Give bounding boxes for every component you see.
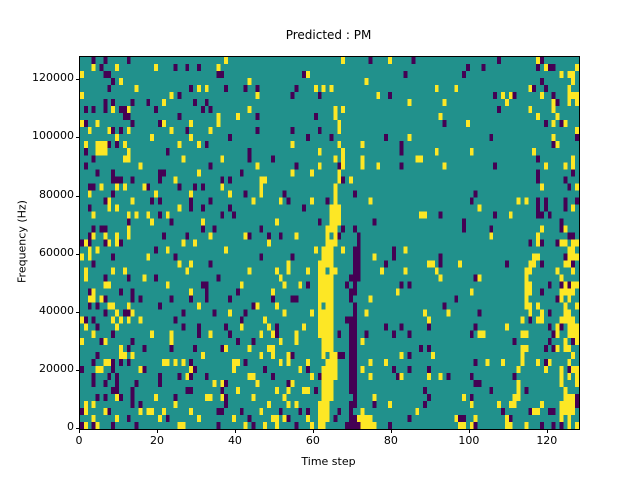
x-tick-label: 120 — [517, 434, 577, 447]
y-tick-mark — [76, 370, 80, 371]
x-tick-mark — [235, 429, 236, 433]
y-axis-label: Frequency (Hz) — [16, 42, 29, 442]
y-tick-label: 120000 — [10, 71, 74, 84]
y-tick-label: 60000 — [10, 246, 74, 259]
y-tick-label: 40000 — [10, 304, 74, 317]
y-tick-label: 20000 — [10, 362, 74, 375]
x-tick-mark — [469, 429, 470, 433]
y-tick-label: 0 — [10, 420, 74, 433]
x-tick-mark — [157, 429, 158, 433]
heatmap-image — [80, 57, 579, 429]
x-tick-label: 20 — [127, 434, 187, 447]
y-tick-mark — [76, 312, 80, 313]
x-tick-label: 100 — [439, 434, 499, 447]
x-tick-mark — [79, 429, 80, 433]
y-tick-mark — [76, 254, 80, 255]
x-tick-label: 0 — [49, 434, 109, 447]
x-tick-mark — [547, 429, 548, 433]
y-tick-label: 100000 — [10, 129, 74, 142]
heatmap-plot-area[interactable] — [79, 56, 580, 430]
y-tick-label: 80000 — [10, 188, 74, 201]
x-tick-mark — [391, 429, 392, 433]
x-axis-label: Time step — [79, 455, 578, 468]
y-tick-mark — [76, 137, 80, 138]
x-tick-mark — [313, 429, 314, 433]
y-tick-mark — [76, 79, 80, 80]
page-title: Predicted : PM — [79, 28, 578, 42]
y-tick-mark — [76, 196, 80, 197]
x-tick-label: 40 — [205, 434, 265, 447]
x-tick-label: 80 — [361, 434, 421, 447]
x-tick-label: 60 — [283, 434, 343, 447]
matplotlib-figure: Predicted : PM Frequency (Hz) Time step … — [0, 0, 640, 480]
